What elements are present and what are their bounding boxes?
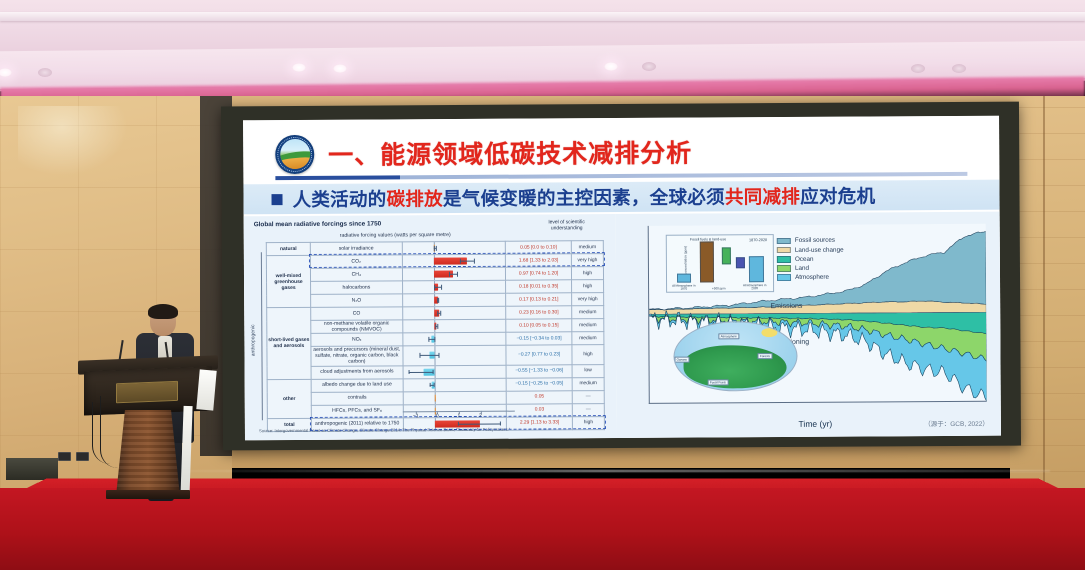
- subtitle-segment-4: 应对危机: [800, 185, 875, 206]
- diagram-label-atmosphere: Atmosphere: [718, 333, 739, 339]
- inset-bar-fossil: [699, 241, 714, 283]
- y-axis-tickmark: [648, 226, 649, 227]
- projection-screen-frame: 一、能源领域低碳技术减排分析 人类活动的碳排放是气候变暖的主控因素，全球必须共同…: [221, 102, 1021, 451]
- rf-bar-cell: [403, 391, 507, 405]
- rf-bar-cell: [402, 267, 506, 281]
- inset-co2-concentration-chart: CO₂ concentration (ppm) Fossil fuels & l…: [666, 234, 774, 293]
- subtitle-segment-3: 共同减排: [725, 186, 800, 207]
- rf-value: 0.97 [0.74 to 1.20]: [506, 267, 572, 280]
- rf-side-label: anthropogenic: [250, 325, 256, 357]
- rf-forcing-name: halocarbons: [310, 281, 402, 295]
- rf-uncertainty-whisker: [420, 355, 440, 356]
- rf-uncertainty-whisker: [435, 287, 442, 288]
- rf-axis: −1012: [267, 410, 605, 424]
- slide-title-row: 一、能源领域低碳技术减排分析: [243, 130, 999, 175]
- inset-period: 1870-2020: [749, 238, 767, 242]
- presentation-papers: [180, 406, 192, 498]
- slide-subtitle: 人类活动的碳排放是气候变暖的主控因素，全球必须共同减排应对危机: [292, 182, 875, 212]
- diagram-label-forests: Forests: [757, 353, 772, 359]
- rf-side-brace: [261, 252, 263, 420]
- wall-seam: [1043, 96, 1045, 498]
- presentation-slide: 一、能源领域低碳技术减排分析 人类活动的碳排放是气候变暖的主控因素，全球必须共同…: [243, 116, 1001, 441]
- rf-bar-cell: [402, 254, 506, 268]
- rf-uncertainty-whisker: [449, 274, 458, 275]
- rf-uncertainty-whisker: [434, 248, 436, 249]
- stage-highlight: [150, 470, 1050, 472]
- rf-forcing-name: cloud adjustments from aerosols: [311, 365, 403, 379]
- rf-uncertainty-whisker: [438, 313, 441, 314]
- rf-axis-tick-label: 1: [457, 412, 460, 418]
- rf-source-note: Source: Intergovernmental Panel on Clima…: [259, 427, 510, 434]
- diagram-label-oceans: Oceans: [674, 357, 689, 363]
- x-axis-tickmark: [748, 402, 749, 404]
- rf-bar-cell: [403, 332, 507, 346]
- legend-swatch: [777, 238, 791, 245]
- rf-forcing-name: non-methane volatile organic compounds (…: [311, 320, 403, 334]
- downlight-icon: [333, 64, 347, 73]
- subtitle-segment-2: 是气候变暖的主控因素，全球必须: [443, 186, 725, 209]
- gcb-plot-area: Fossil sourcesLand-use changeOceanLandAt…: [648, 224, 987, 404]
- rf-bar-cell: [403, 378, 507, 392]
- inset-bar-ocean: [736, 257, 746, 268]
- legend-label: Fossil sources: [795, 237, 835, 244]
- legend-swatch: [777, 265, 791, 272]
- annotation-emissions: Emissions: [770, 303, 802, 310]
- rf-confidence: high: [572, 280, 604, 293]
- table-row: aerosols and precursors (mineral dust, s…: [267, 345, 604, 366]
- inset-x-right-label: All Atmosphere in 2020: [741, 284, 769, 291]
- legend-item: Ocean: [777, 255, 844, 262]
- rf-bar-cell: [402, 280, 506, 294]
- rf-forcing-name: CO₂: [310, 255, 402, 269]
- downlight-icon: [292, 63, 306, 72]
- podium-base: [106, 490, 190, 499]
- legend-item: Fossil sources: [777, 237, 844, 244]
- rf-confidence: very high: [572, 293, 604, 306]
- rf-group-label: well-mixed greenhouse gases: [266, 255, 310, 307]
- rf-bar-cell: [402, 306, 506, 320]
- legend-item: Land-use change: [777, 246, 844, 253]
- downlight-icon: [38, 68, 52, 77]
- inset-bar-atm-1870: [677, 273, 691, 283]
- institution-emblem-icon: [275, 134, 314, 173]
- rf-forcing-name: N₂O: [311, 294, 403, 308]
- legend-item: Atmosphere: [777, 274, 844, 281]
- legend-item: Land: [777, 265, 844, 272]
- rf-forcing-name: contrails: [311, 391, 403, 405]
- legend-label: Land: [795, 265, 809, 272]
- legend-swatch: [777, 274, 791, 281]
- rf-forcing-name: albedo change due to land use: [311, 378, 403, 392]
- rf-bar: [435, 394, 436, 401]
- rf-confidence: medium: [572, 319, 604, 332]
- rf-confidence: low: [572, 364, 604, 377]
- presentation-papers: [196, 369, 216, 410]
- rf-confidence: high: [571, 267, 603, 280]
- rf-uncertainty-whisker: [430, 384, 434, 385]
- rf-group-label: short-lived gases and aerosols: [267, 307, 311, 379]
- y-axis-tickmark: [648, 314, 650, 315]
- bullet-square-icon: [271, 194, 282, 205]
- downlight-icon: [604, 62, 618, 71]
- rf-forcing-name: solar irradiance: [310, 242, 402, 256]
- rf-uncertainty-whisker: [436, 326, 438, 327]
- rf-forcing-name: CO: [311, 307, 403, 321]
- inset-x-left-label: All Atmosphere in 1870: [671, 284, 696, 291]
- wall-outlet: [58, 452, 71, 461]
- y-axis-tickmark: [648, 373, 650, 374]
- rf-value: −0.27 [0.77 to 0.23]: [506, 345, 572, 365]
- rf-forcing-name: CH₄: [310, 268, 402, 282]
- rf-confidence: medium: [572, 377, 604, 390]
- subtitle-segment-1: 碳排放: [386, 188, 443, 209]
- downlight-icon: [952, 64, 966, 73]
- x-axis-label: Time (yr): [799, 419, 833, 429]
- rf-axis-tick-label: 2: [479, 412, 482, 418]
- y-axis-tickmark: [648, 285, 649, 286]
- y-axis-tickmark: [648, 344, 650, 345]
- rf-value: 0.10 [0.05 to 0.15]: [506, 319, 572, 333]
- rf-uncertainty-whisker: [428, 339, 435, 340]
- radiative-forcing-table: naturalsolar irradiance0.05 [0.0 to 0.10…: [266, 240, 605, 432]
- slide-title: 一、能源领域低碳技术减排分析: [328, 134, 692, 172]
- rf-uncertainty-whisker: [457, 423, 500, 424]
- y-axis-tickmark: [648, 255, 649, 256]
- downlight-icon: [911, 64, 925, 73]
- rf-value: −0.55 [−1.33 to −0.06]: [506, 364, 572, 377]
- rf-confidence: medium: [572, 306, 604, 319]
- rf-value: 0.05: [506, 390, 572, 403]
- legend-label: Atmosphere: [795, 274, 829, 281]
- wall-right-wood: [1010, 96, 1085, 498]
- rf-confidence: medium: [572, 332, 604, 345]
- x-axis-tickmark: [945, 401, 946, 404]
- rf-bar-cell: [402, 241, 506, 255]
- rf-bar-cell: [402, 293, 506, 307]
- land-mass-shape: [684, 345, 787, 388]
- gcb-chart: CO₂ flux (GtC yr⁻¹) Fossil sourcesLand-u…: [620, 216, 995, 434]
- legend-label: Ocean: [795, 256, 814, 263]
- rf-value: 0.23 [0.16 to 0.30]: [506, 306, 572, 319]
- rf-confidence: medium: [571, 241, 603, 254]
- floor-equipment-box: [6, 458, 58, 480]
- rf-axis-tick-label: −1: [413, 413, 419, 419]
- carbon-budget-figure: CO₂ flux (GtC yr⁻¹) Fossil sourcesLand-u…: [616, 212, 1001, 438]
- diagram-label-fossil-fuels: Fossil Fuels: [707, 380, 728, 386]
- rf-confidence: high: [572, 345, 604, 365]
- rf-uncertainty-whisker: [460, 261, 474, 262]
- slide-body: Global mean radiative forcings since 175…: [244, 212, 1001, 441]
- inset-bar-land: [722, 248, 732, 265]
- legend-label: Land-use change: [795, 246, 844, 253]
- chart-credit: （源于：GCB, 2022）: [924, 418, 989, 428]
- inset-x-mid-label: +500 ppm: [705, 287, 733, 290]
- legend-swatch: [777, 256, 791, 263]
- chart-legend: Fossil sourcesLand-use changeOceanLandAt…: [777, 237, 844, 283]
- rf-axis-tick-label: 0: [436, 413, 439, 419]
- rf-confidence: very high: [571, 254, 603, 267]
- rf-value: 0.05 [0.0 to 0.10]: [506, 241, 572, 254]
- inset-bar-atm-2020: [749, 256, 764, 283]
- radiative-forcing-figure: Global mean radiative forcings since 175…: [244, 214, 617, 440]
- y-axis-tickmark: [648, 403, 650, 404]
- rf-value: 1.68 [1.33 to 2.03]: [506, 254, 572, 267]
- rf-bar-cell: [403, 345, 507, 365]
- subtitle-band: 人类活动的碳排放是气候变暖的主控因素，全球必须共同减排应对危机: [243, 180, 999, 215]
- rf-value: −0.15 [−0.25 to −0.05]: [506, 377, 572, 390]
- rf-value: 0.18 [0.01 to 0.35]: [506, 280, 572, 293]
- sun-icon: [761, 329, 777, 338]
- legend-swatch: [777, 247, 791, 254]
- presentation-scene: 一、能源领域低碳技术减排分析 人类活动的碳排放是气候变暖的主控因素，全球必须共同…: [0, 0, 1085, 570]
- rf-bar-cell: [402, 319, 506, 333]
- x-axis-tickmark: [847, 402, 848, 404]
- rf-title: Global mean radiative forcings since 175…: [254, 220, 382, 228]
- rf-confidence-header: level of scientific understanding: [536, 219, 598, 232]
- ceiling-molding: [0, 12, 1085, 21]
- downlight-icon: [642, 62, 656, 71]
- rf-value: −0.15 [−0.34 to 0.03]: [506, 332, 572, 345]
- rf-forcing-name: aerosols and precursors (mineral dust, s…: [311, 346, 403, 366]
- rf-confidence: —: [572, 390, 604, 403]
- x-axis-tickmark: [650, 403, 651, 404]
- rf-forcing-name: NOₓ: [311, 333, 403, 347]
- projection-screen: 一、能源领域低碳技术减排分析 人类活动的碳排放是气候变暖的主控因素，全球必须共同…: [243, 116, 1001, 441]
- rf-group-label: natural: [266, 242, 310, 255]
- rf-value: 0.17 [0.13 to 0.21]: [506, 293, 572, 306]
- rf-bar-cell: [403, 365, 507, 379]
- rf-uncertainty-whisker: [437, 300, 439, 301]
- cable: [92, 402, 122, 464]
- subtitle-segment-0: 人类活动的: [292, 188, 386, 210]
- rf-values-header: radiative forcing values (watts per squa…: [340, 232, 451, 239]
- speaker-hair: [148, 304, 178, 319]
